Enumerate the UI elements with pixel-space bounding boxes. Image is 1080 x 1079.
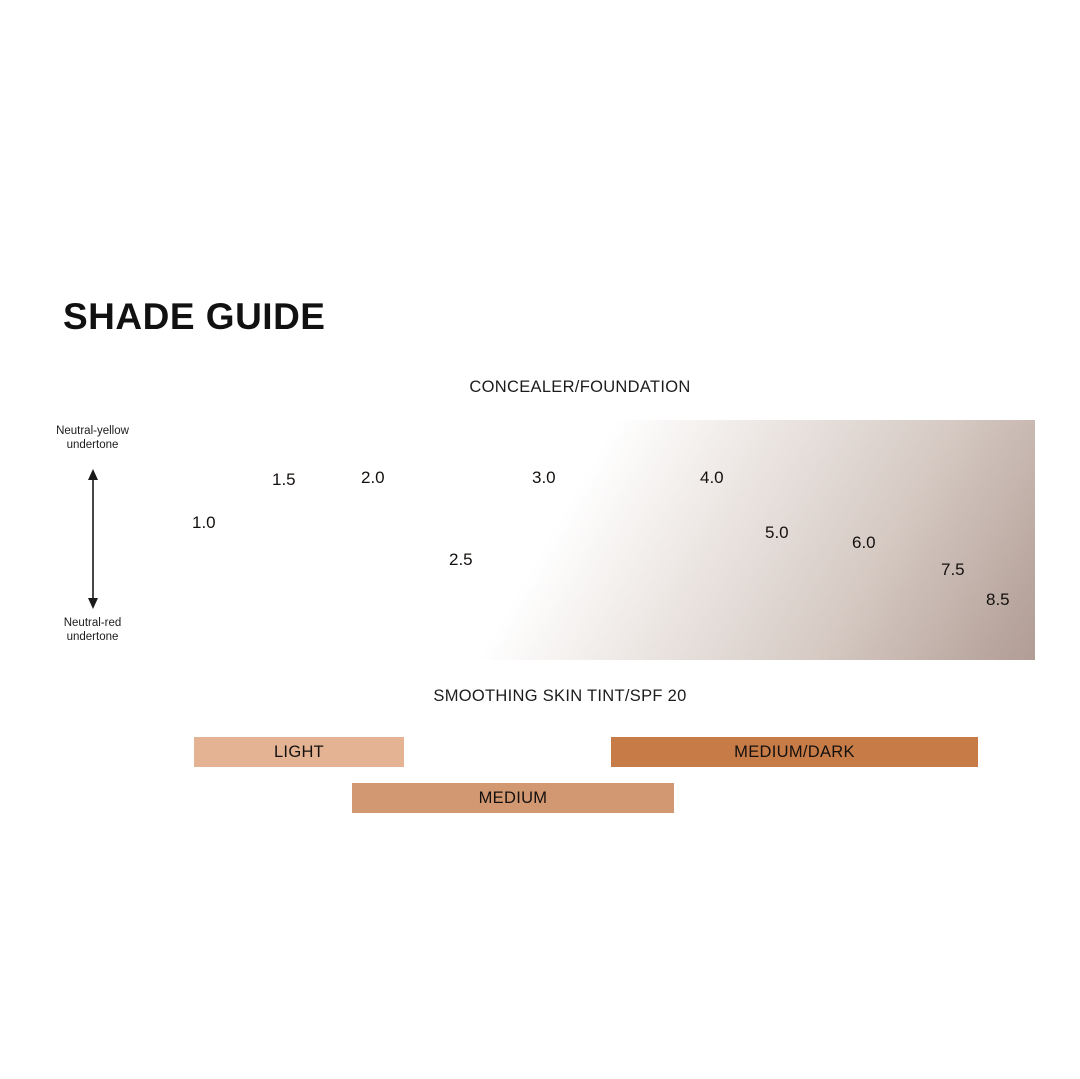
undertone-axis: Neutral-yellow undertone Neutral-red und… [30, 420, 155, 660]
tint-bar-label: LIGHT [274, 743, 324, 762]
shade-label-3-0: 3.0 [532, 468, 556, 488]
shade-label-2-0: 2.0 [361, 468, 385, 488]
shade-label-4-0: 4.0 [700, 468, 724, 488]
shade-label-1-5: 1.5 [272, 470, 296, 490]
shade-label-2-5: 2.5 [449, 550, 473, 570]
double-arrow-icon [86, 468, 100, 610]
shade-label-6-0: 6.0 [852, 533, 876, 553]
tint-bar-medium-dark: MEDIUM/DARK [611, 737, 978, 767]
undertone-label-bottom: Neutral-red undertone [30, 616, 155, 644]
undertone-label-top: Neutral-yellow undertone [30, 424, 155, 452]
tint-bar-light: LIGHT [194, 737, 404, 767]
smoothing-skin-tint-heading: SMOOTHING SKIN TINT/SPF 20 [40, 687, 1080, 706]
tint-bar-label: MEDIUM [479, 789, 548, 808]
undertone-bottom-line1: Neutral-red [64, 617, 122, 629]
tint-bar-medium: MEDIUM [352, 783, 674, 813]
undertone-bottom-line2: undertone [67, 631, 119, 643]
page-title: SHADE GUIDE [63, 296, 325, 338]
tint-bar-label: MEDIUM/DARK [734, 743, 855, 762]
concealer-foundation-heading: CONCEALER/FOUNDATION [80, 378, 1080, 397]
shade-label-8-5: 8.5 [986, 590, 1010, 610]
shade-gradient-panel: 1.01.52.02.53.04.05.06.07.58.5 [160, 420, 1035, 660]
shade-label-5-0: 5.0 [765, 523, 789, 543]
undertone-top-line2: undertone [67, 439, 119, 451]
shade-label-7-5: 7.5 [941, 560, 965, 580]
undertone-top-line1: Neutral-yellow [56, 425, 129, 437]
shade-label-1-0: 1.0 [192, 513, 216, 533]
